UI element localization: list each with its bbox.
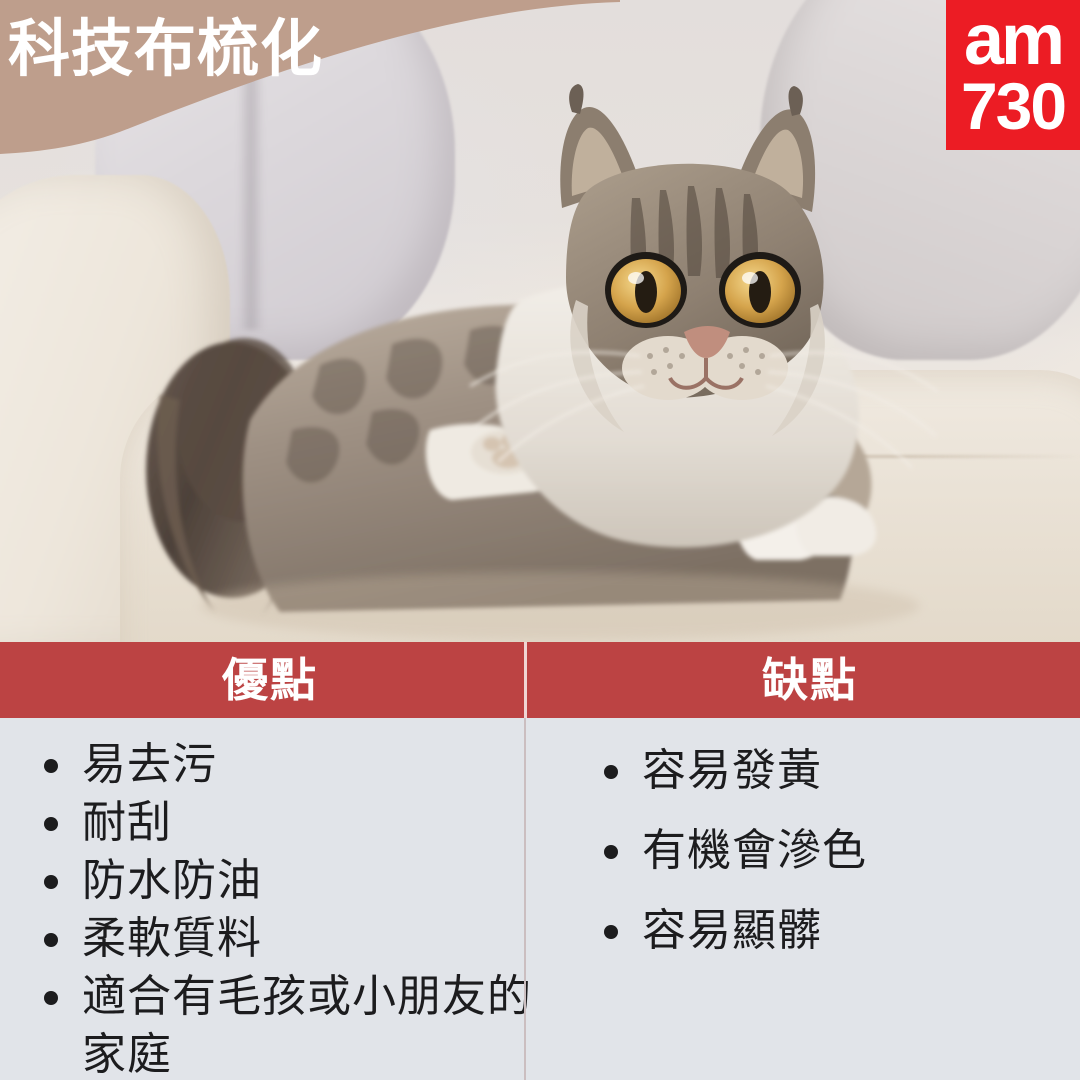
column-divider-header: [524, 642, 527, 718]
infographic-card: 科技布梳化 am 730 優點 缺點 易去污: [0, 0, 1080, 1080]
cons-column: 容易發黃 有機會滲色 容易顯髒: [540, 718, 1080, 1080]
pros-column: 易去污 耐刮 防水防油 柔軟質料: [0, 718, 540, 1080]
page-title: 科技布梳化: [8, 8, 568, 92]
list-item: 有機會滲色: [574, 822, 1080, 880]
logo-text-730: 730: [946, 72, 1080, 140]
bullet-icon: [604, 765, 618, 779]
cons-list: 容易發黃 有機會滲色 容易顯髒: [574, 742, 1080, 960]
list-item-label: 容易發黃: [642, 742, 1080, 800]
list-item-label: 容易顯髒: [642, 902, 1080, 960]
list-item-label: 適合有毛孩或小朋友的家庭: [82, 968, 540, 1080]
list-item: 耐刮: [0, 794, 540, 852]
bullet-icon: [604, 845, 618, 859]
pros-list: 易去污 耐刮 防水防油 柔軟質料: [0, 736, 540, 1080]
list-item: 適合有毛孩或小朋友的家庭: [0, 968, 540, 1080]
bullet-icon: [44, 817, 58, 831]
list-item-label: 有機會滲色: [642, 822, 1080, 880]
header-label-pros: 優點: [222, 655, 318, 705]
table-body: 易去污 耐刮 防水防油 柔軟質料: [0, 718, 1080, 1080]
list-item: 容易顯髒: [574, 902, 1080, 960]
table-header-row: 優點 缺點: [0, 642, 1080, 718]
bullet-icon: [44, 875, 58, 889]
bullet-icon: [44, 759, 58, 773]
list-item-label: 柔軟質料: [82, 910, 540, 968]
list-item-label: 易去污: [82, 736, 540, 794]
list-item-label: 防水防油: [82, 852, 540, 910]
list-item-label: 耐刮: [82, 794, 540, 852]
logo-text-am: am: [946, 4, 1080, 76]
table-header-cons: 缺點: [540, 642, 1080, 718]
table-header-pros: 優點: [0, 642, 540, 718]
list-item: 防水防油: [0, 852, 540, 910]
list-item: 易去污: [0, 736, 540, 794]
am730-logo[interactable]: am 730: [946, 0, 1080, 150]
pros-cons-table: 優點 缺點 易去污 耐刮: [0, 642, 1080, 1080]
header-label-cons: 缺點: [762, 655, 858, 705]
list-item: 容易發黃: [574, 742, 1080, 800]
bullet-icon: [44, 933, 58, 947]
list-item: 柔軟質料: [0, 910, 540, 968]
bullet-icon: [44, 991, 58, 1005]
bullet-icon: [604, 925, 618, 939]
